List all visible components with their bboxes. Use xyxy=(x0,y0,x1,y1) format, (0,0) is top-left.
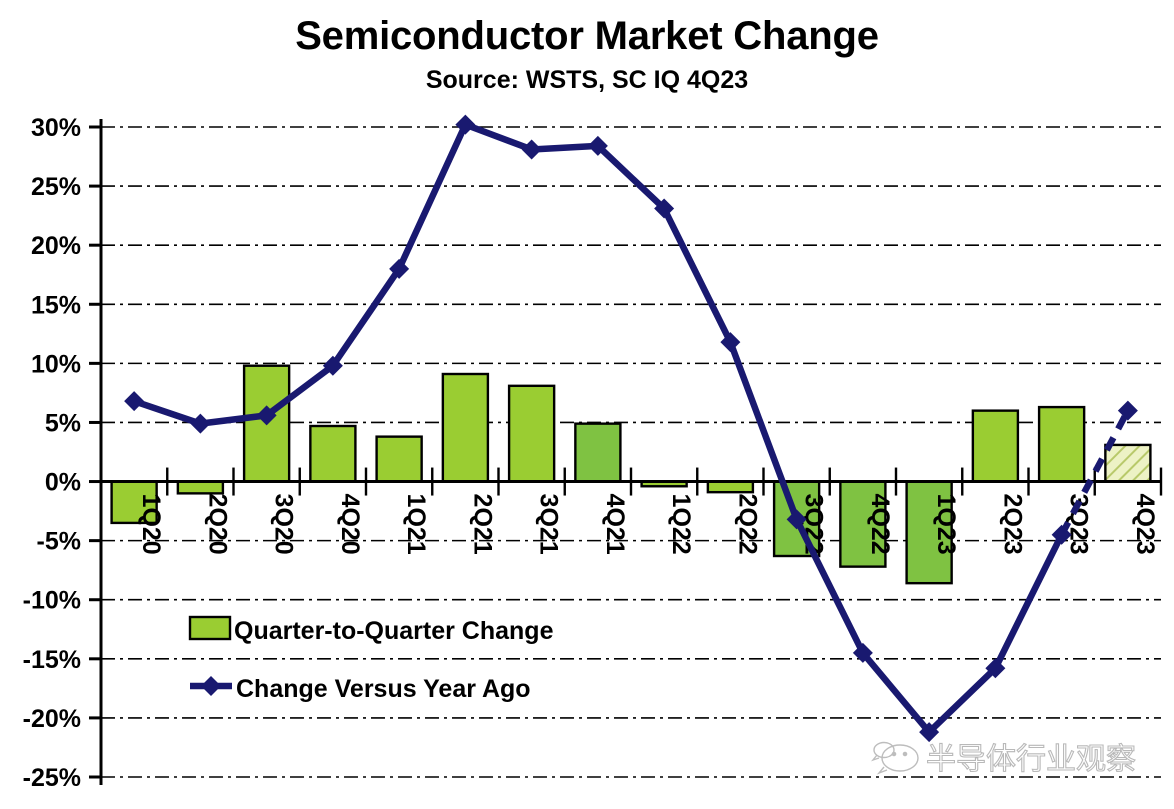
category-label: 1Q21 xyxy=(402,494,430,555)
category-label: 3Q22 xyxy=(800,494,828,555)
y-axis-tick-label: 30% xyxy=(31,114,81,142)
bar xyxy=(310,426,355,482)
category-label: 4Q23 xyxy=(1131,494,1159,555)
y-axis-tick-label: 20% xyxy=(31,232,81,260)
bar xyxy=(973,411,1018,482)
chart-container: Semiconductor Market Change Source: WSTS… xyxy=(0,0,1174,809)
y-axis-tick-label: 5% xyxy=(45,409,81,437)
chart-legend: Quarter-to-Quarter ChangeChange Versus Y… xyxy=(190,617,554,703)
wechat-icon xyxy=(873,743,918,774)
x-axis-category-labels: 1Q202Q203Q204Q201Q212Q213Q214Q211Q222Q22… xyxy=(137,494,1159,555)
y-axis-tick-label: 0% xyxy=(45,469,81,497)
legend-marker-diamond xyxy=(201,676,221,696)
legend-swatch-bar xyxy=(190,617,230,639)
bar xyxy=(1105,445,1150,482)
category-label: 3Q21 xyxy=(535,494,563,555)
bar xyxy=(178,482,223,494)
category-label: 4Q22 xyxy=(866,494,894,555)
y-axis-ticks xyxy=(89,127,101,777)
bar xyxy=(509,386,554,482)
bar xyxy=(575,424,620,482)
category-label: 2Q22 xyxy=(733,494,761,555)
y-axis-tick-label: -20% xyxy=(23,705,81,733)
bar xyxy=(377,437,422,482)
category-label: 4Q21 xyxy=(601,494,629,555)
category-label: 3Q20 xyxy=(270,494,298,555)
line-marker-diamond xyxy=(124,391,144,411)
y-axis-labels: 30%25%20%15%10%5%0%-5%-10%-15%-20%-25% xyxy=(23,114,81,792)
legend-label-versus-year-ago: Change Versus Year Ago xyxy=(236,675,531,703)
y-axis-tick-label: -25% xyxy=(23,764,81,792)
category-label: 1Q22 xyxy=(667,494,695,555)
bar xyxy=(708,482,753,493)
line-marker-diamond xyxy=(455,115,475,135)
category-label: 2Q21 xyxy=(468,494,496,555)
line-marker-diamond xyxy=(522,139,542,159)
y-axis-tick-label: -5% xyxy=(37,528,81,556)
watermark-label: 半导体行业观察 xyxy=(926,742,1136,777)
category-label: 1Q20 xyxy=(137,494,165,555)
y-axis-tick-label: 15% xyxy=(31,291,81,319)
bar xyxy=(1039,407,1084,481)
watermark: 半导体行业观察 xyxy=(873,742,1136,777)
y-axis-tick-label: 25% xyxy=(31,173,81,201)
category-label: 2Q20 xyxy=(203,494,231,555)
bar xyxy=(443,374,488,482)
y-axis-tick-label: -15% xyxy=(23,646,81,674)
category-label: 4Q20 xyxy=(336,494,364,555)
category-label: 2Q23 xyxy=(998,494,1026,555)
line-marker-diamond xyxy=(190,414,210,434)
category-label: 1Q23 xyxy=(932,494,960,555)
legend-label-quarter-to-quarter: Quarter-to-Quarter Change xyxy=(234,617,554,645)
chart-plot-area: 30%25%20%15%10%5%0%-5%-10%-15%-20%-25% 1… xyxy=(0,0,1174,809)
y-axis-tick-label: -10% xyxy=(23,587,81,615)
y-axis-tick-label: 10% xyxy=(31,350,81,378)
